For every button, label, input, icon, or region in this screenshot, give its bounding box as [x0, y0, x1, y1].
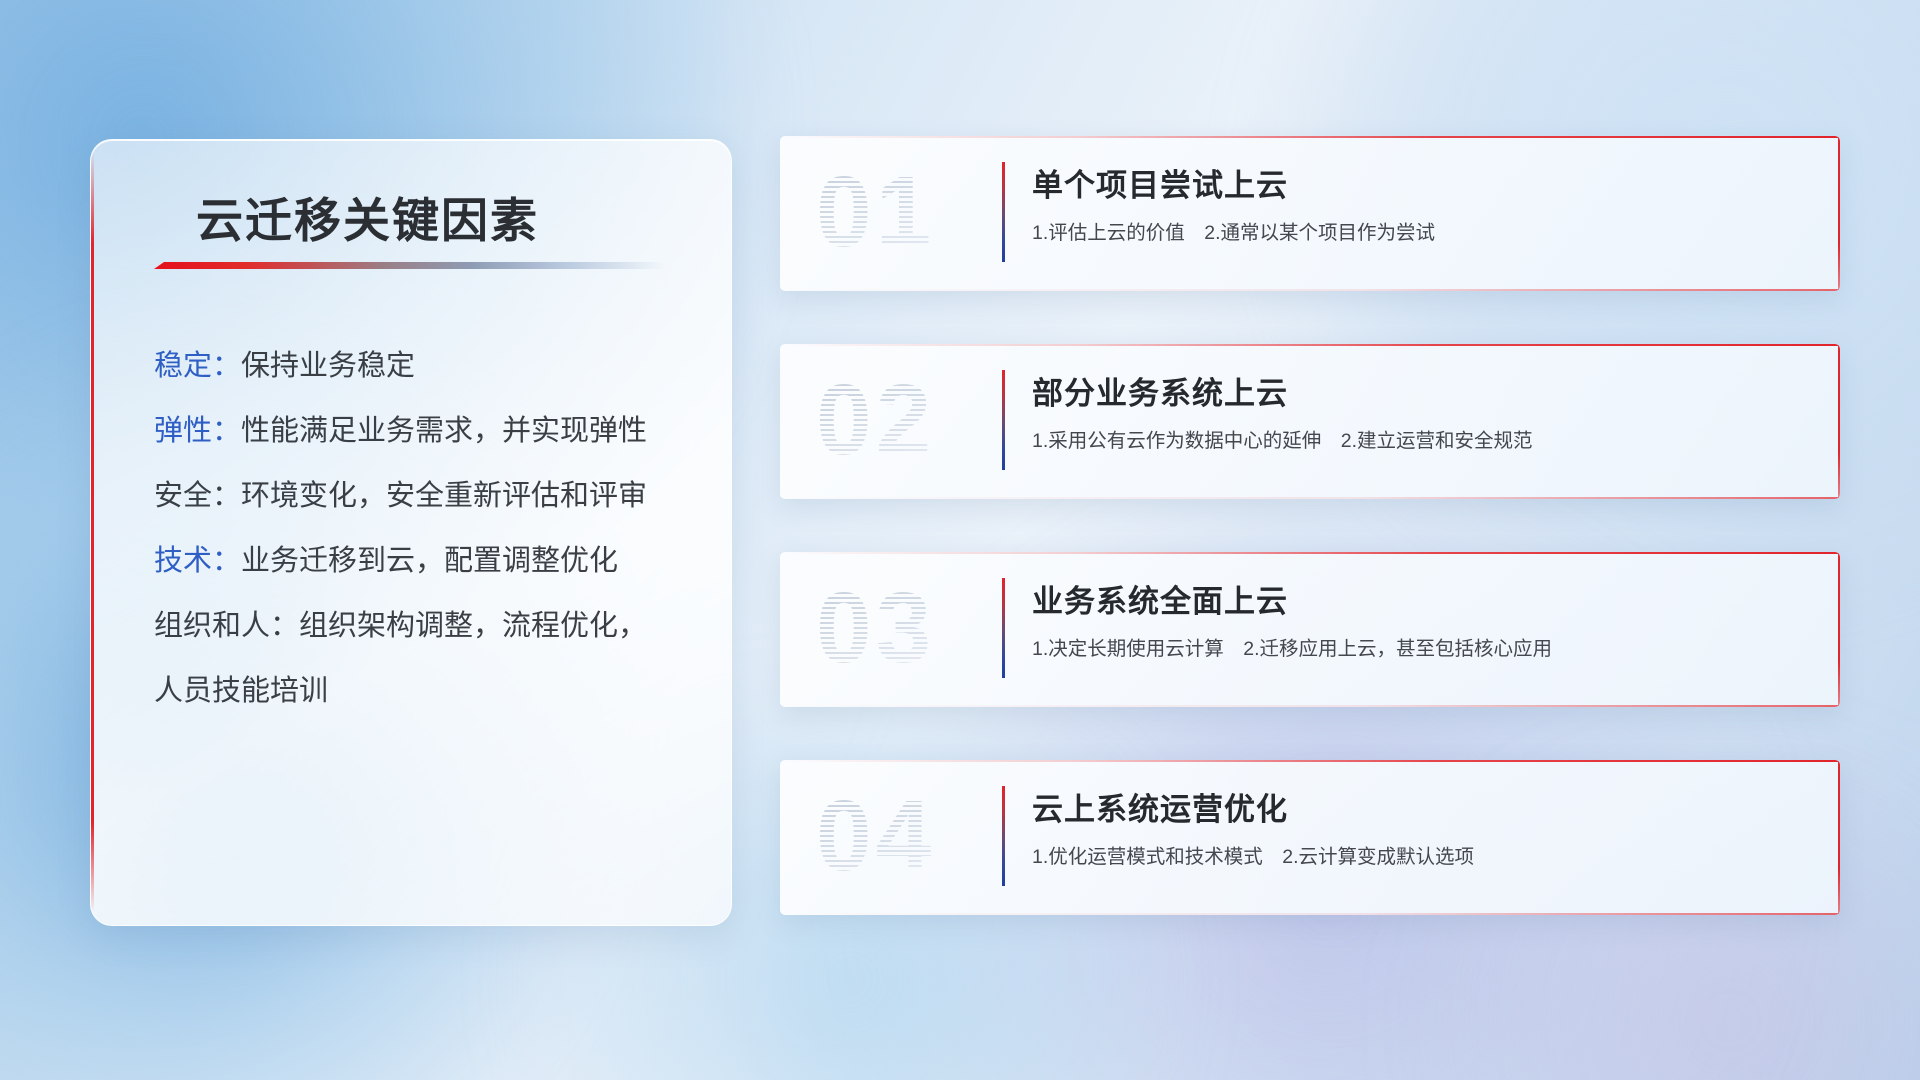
card-top-accent: [780, 552, 1840, 554]
stage-description: 1.评估上云的价值 2.通常以某个项目作为尝试: [1032, 216, 1435, 245]
stage-title: 业务系统全面上云: [1032, 576, 1288, 621]
factor-text: 保持业务稳定: [241, 350, 415, 382]
card-right-accent: [1838, 136, 1840, 291]
stage-number-text: 04: [816, 780, 935, 892]
stage-number-watermark: 04: [816, 780, 986, 892]
factor-label: 安全：: [154, 480, 241, 512]
stage-description: 1.优化运营模式和技术模式 2.云计算变成默认选项: [1032, 840, 1474, 869]
stage-number-watermark: 01: [816, 156, 986, 268]
factor-text: 环境变化，安全重新评估和评审: [241, 480, 647, 512]
key-factors-list: 稳定：保持业务稳定 弹性：性能满足业务需求，并实现弹性 安全：环境变化，安全重新…: [154, 352, 691, 706]
factor-label: 组织和人：: [154, 610, 299, 642]
list-item: 弹性：性能满足业务需求，并实现弹性: [154, 417, 691, 446]
stage-card[interactable]: 02 部分业务系统上云 1.采用公有云作为数据中心的延伸 2.建立运营和安全规范: [780, 344, 1840, 499]
factor-text: 性能满足业务需求，并实现弹性: [241, 415, 647, 447]
stage-card-list: 01 单个项目尝试上云 1.评估上云的价值 2.通常以某个项目作为尝试 02 部…: [780, 136, 1840, 915]
key-factors-panel: 云迁移关键因素 稳定：保持业务稳定 弹性：性能满足业务需求，并实现弹性 安全：环…: [90, 139, 732, 926]
list-item: 技术：业务迁移到云，配置调整优化: [154, 547, 691, 576]
card-right-accent: [1838, 552, 1840, 707]
stage-title: 云上系统运营优化: [1032, 784, 1288, 829]
card-bottom-accent: [780, 497, 1840, 499]
card-bottom-accent: [780, 289, 1840, 291]
stage-description: 1.决定长期使用云计算 2.迁移应用上云，甚至包括核心应用: [1032, 632, 1552, 661]
list-item: 安全：环境变化，安全重新评估和评审: [154, 482, 691, 511]
card-right-accent: [1838, 344, 1840, 499]
panel-left-accent-bar: [91, 152, 94, 913]
stage-number-text: 01: [816, 156, 935, 268]
stage-number-text: 02: [816, 364, 935, 476]
card-divider-bar: [1002, 786, 1005, 886]
list-item: 稳定：保持业务稳定: [154, 352, 691, 381]
stage-description: 1.采用公有云作为数据中心的延伸 2.建立运营和安全规范: [1032, 424, 1533, 453]
panel-title: 云迁移关键因素: [196, 182, 539, 251]
card-divider-bar: [1002, 578, 1005, 678]
factor-label: 弹性：: [154, 415, 241, 447]
card-top-accent: [780, 136, 1840, 138]
stage-title: 单个项目尝试上云: [1032, 160, 1288, 205]
factor-text: 业务迁移到云，配置调整优化: [241, 545, 618, 577]
card-bottom-accent: [780, 913, 1840, 915]
card-right-accent: [1838, 760, 1840, 915]
stage-number-text: 03: [816, 572, 935, 684]
stage-number-watermark: 02: [816, 364, 986, 476]
stage-number-watermark: 03: [816, 572, 986, 684]
card-divider-bar: [1002, 162, 1005, 262]
factor-text: 人员技能培训: [154, 675, 328, 707]
card-top-accent: [780, 760, 1840, 762]
list-item: 组织和人：组织架构调整，流程优化，: [154, 612, 691, 641]
factor-text: 组织架构调整，流程优化，: [299, 610, 647, 642]
stage-card[interactable]: 03 业务系统全面上云 1.决定长期使用云计算 2.迁移应用上云，甚至包括核心应…: [780, 552, 1840, 707]
factor-label: 稳定：: [154, 350, 241, 382]
card-top-accent: [780, 344, 1840, 346]
factor-label: 技术：: [154, 545, 241, 577]
card-divider-bar: [1002, 370, 1005, 470]
stage-title: 部分业务系统上云: [1032, 368, 1288, 413]
stage-card[interactable]: 04 云上系统运营优化 1.优化运营模式和技术模式 2.云计算变成默认选项: [780, 760, 1840, 915]
list-item: 人员技能培训: [154, 677, 691, 706]
card-bottom-accent: [780, 705, 1840, 707]
title-underline: [154, 262, 666, 269]
stage-card[interactable]: 01 单个项目尝试上云 1.评估上云的价值 2.通常以某个项目作为尝试: [780, 136, 1840, 291]
